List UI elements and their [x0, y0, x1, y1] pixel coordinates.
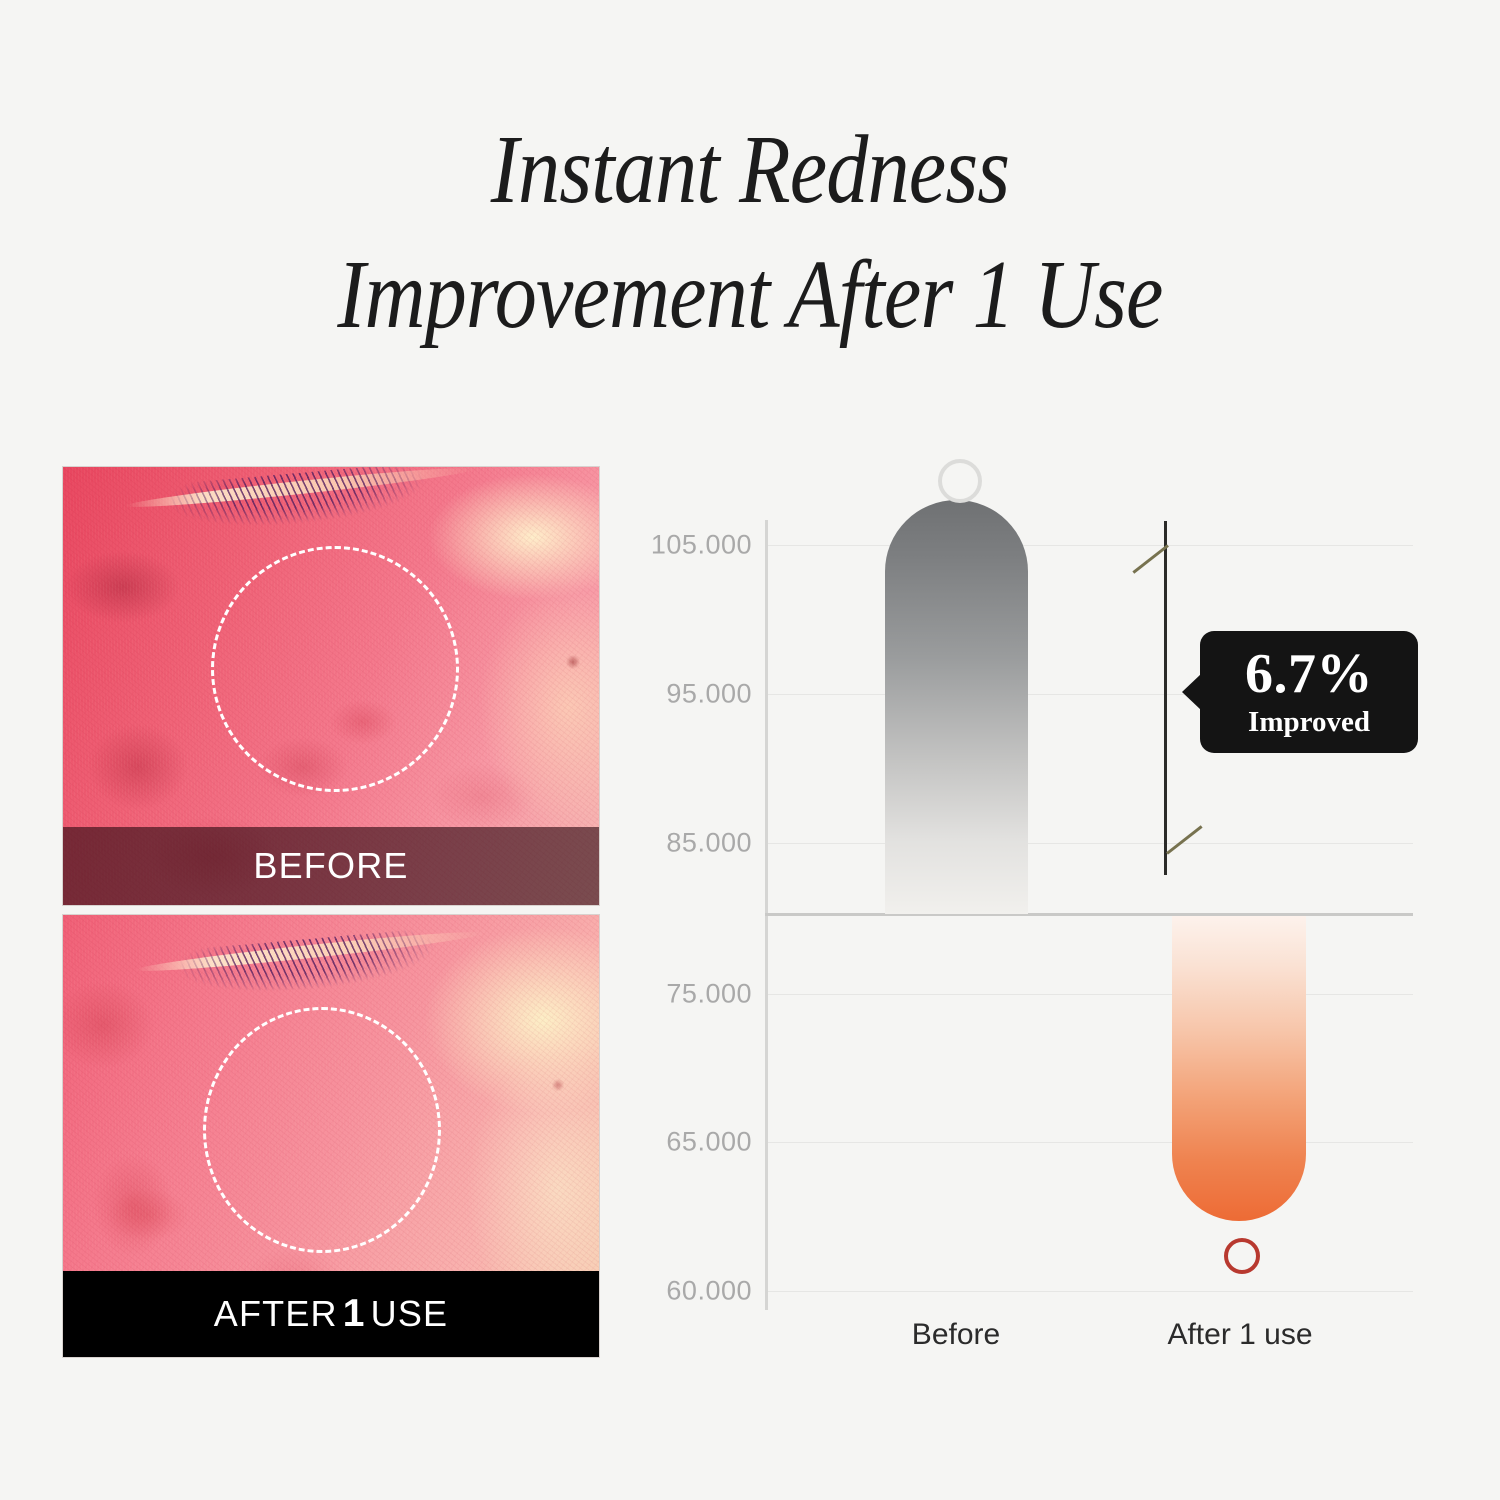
y-tick-label-95: 95.000	[612, 679, 752, 710]
improvement-percent: 6.7%	[1245, 646, 1373, 702]
gridline-60	[765, 1291, 1413, 1292]
after-photo-label: AFTER 1 USE	[63, 1271, 599, 1357]
dashed-circle-annotation-icon	[203, 1007, 441, 1253]
after-label-text: AFTER	[214, 1293, 338, 1335]
gridline-105	[765, 545, 1413, 546]
marker-circle-before-icon	[938, 459, 982, 503]
bar-after[interactable]	[1172, 916, 1306, 1221]
marker-circle-after-icon	[1224, 1238, 1260, 1274]
redness-bar-chart: 105.000 95.000 85.000 75.000 65.000 60.0…	[630, 440, 1430, 1380]
before-photo-card: BEFORE	[62, 466, 600, 906]
gridline-65	[765, 1142, 1413, 1143]
bar-before[interactable]	[885, 500, 1028, 914]
title-line-2: Improvement After 1 Use	[105, 233, 1395, 358]
improvement-badge: 6.7% Improved	[1200, 631, 1418, 753]
improvement-caption: Improved	[1248, 707, 1370, 739]
x-tick-label-after: After 1 use	[1167, 1318, 1312, 1352]
y-tick-label-60: 60.000	[612, 1276, 752, 1307]
before-photo-label: BEFORE	[63, 827, 599, 905]
after-photo-card: AFTER 1 USE	[62, 914, 600, 1358]
y-tick-label-75: 75.000	[612, 979, 752, 1010]
caliper-measure-line	[1164, 521, 1167, 875]
after-label-suffix: USE	[371, 1293, 449, 1335]
title-line-1: Instant Redness	[105, 108, 1395, 233]
gridline-75	[765, 994, 1413, 995]
dashed-circle-annotation-icon	[211, 546, 459, 792]
chart-baseline	[765, 913, 1413, 916]
before-after-photo-group: BEFORE AFTER 1 USE	[62, 466, 600, 1358]
y-tick-label-105: 105.000	[612, 530, 752, 561]
x-tick-label-before: Before	[912, 1318, 1000, 1352]
page-title: Instant Redness Improvement After 1 Use	[105, 108, 1395, 359]
gridline-85	[765, 843, 1413, 844]
after-label-count: 1	[338, 1292, 371, 1336]
y-tick-label-85: 85.000	[612, 828, 752, 859]
before-label-text: BEFORE	[253, 845, 408, 887]
caliper-tick-bottom-icon	[1166, 825, 1203, 854]
y-tick-label-65: 65.000	[612, 1127, 752, 1158]
